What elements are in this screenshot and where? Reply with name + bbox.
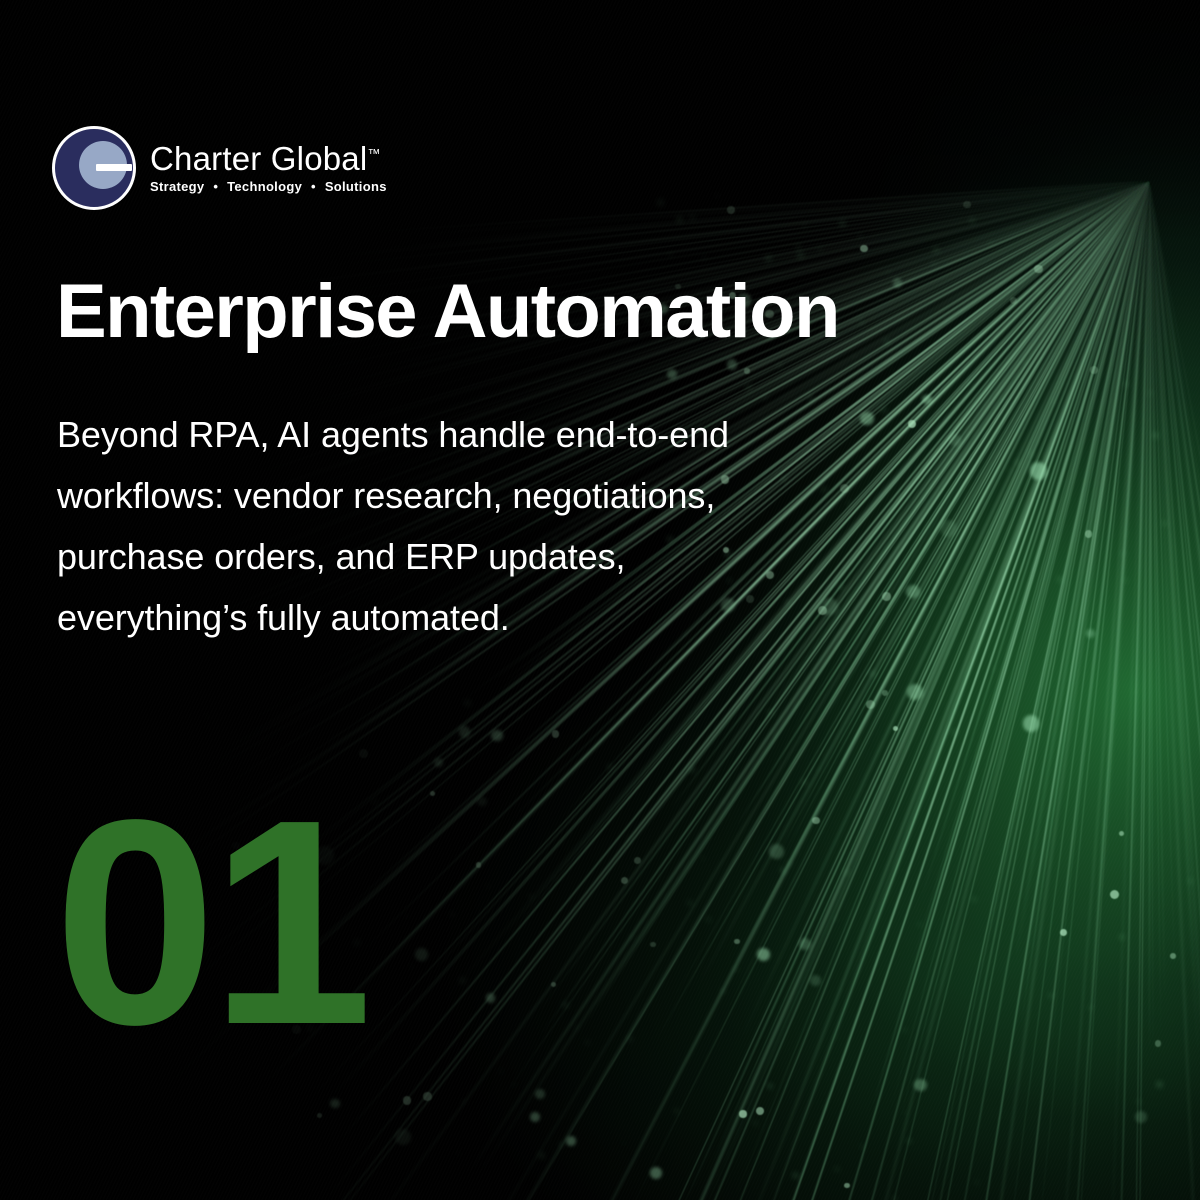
body-line-3: purchase orders, and ERP updates,: [57, 526, 917, 587]
tagline-item-solutions: Solutions: [325, 179, 387, 194]
brand-text-block: Charter Global™ Strategy • Technology • …: [150, 142, 387, 194]
body-line-2: workflows: vendor research, negotiations…: [57, 465, 917, 526]
brand-name: Charter Global™: [150, 142, 387, 176]
charter-global-logo-icon: [52, 126, 136, 210]
slide-content: Charter Global™ Strategy • Technology • …: [0, 0, 1200, 1200]
tagline-separator-2: •: [306, 179, 321, 194]
slide-body-copy: Beyond RPA, AI agents handle end-to-end …: [57, 404, 917, 648]
slide-canvas: Charter Global™ Strategy • Technology • …: [0, 0, 1200, 1200]
body-line-1: Beyond RPA, AI agents handle end-to-end: [57, 404, 917, 465]
tagline-item-technology: Technology: [227, 179, 302, 194]
brand-tagline: Strategy • Technology • Solutions: [150, 179, 387, 194]
slide-headline: Enterprise Automation: [56, 274, 1056, 350]
tagline-item-strategy: Strategy: [150, 179, 204, 194]
step-number: 01: [54, 803, 367, 1042]
brand-name-text: Charter Global: [150, 140, 367, 177]
logo-g-crossbar: [96, 164, 132, 171]
brand-logo-lockup: Charter Global™ Strategy • Technology • …: [52, 126, 387, 210]
trademark-symbol: ™: [367, 146, 380, 161]
tagline-separator-1: •: [208, 179, 223, 194]
body-line-4: everything’s fully automated.: [57, 587, 917, 648]
